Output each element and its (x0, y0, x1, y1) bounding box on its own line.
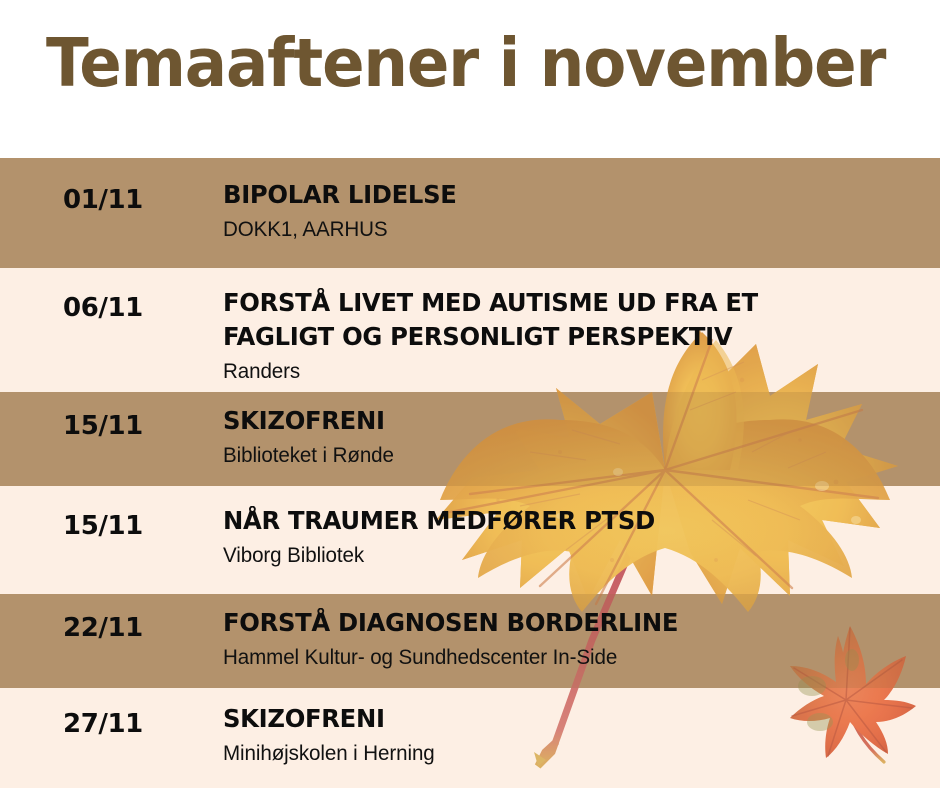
event-title: SKIZOFRENI (223, 702, 909, 736)
event-body: FORSTÅ DIAGNOSEN BORDERLINE Hammel Kultu… (223, 606, 930, 671)
event-title: FORSTÅ DIAGNOSEN BORDERLINE (223, 606, 909, 640)
list-item[interactable]: 15/11 SKIZOFRENI Biblioteket i Rønde (0, 392, 940, 486)
event-venue: Randers (223, 358, 916, 385)
event-date: 27/11 (63, 709, 143, 739)
event-date: 01/11 (63, 185, 143, 215)
list-item[interactable]: 01/11 BIPOLAR LIDELSE DOKK1, AARHUS (0, 158, 940, 268)
event-body: BIPOLAR LIDELSE DOKK1, AARHUS (223, 178, 930, 243)
event-venue: DOKK1, AARHUS (223, 216, 916, 243)
page-title: Temaaftener i november (46, 26, 885, 101)
event-venue: Viborg Bibliotek (223, 542, 916, 569)
event-title: FORSTÅ LIVET MED AUTISME UD FRA ET FAGLI… (223, 286, 909, 354)
list-item[interactable]: 15/11 NÅR TRAUMER MEDFØRER PTSD Viborg B… (0, 486, 940, 594)
event-body: NÅR TRAUMER MEDFØRER PTSD Viborg Bibliot… (223, 504, 930, 569)
list-item[interactable]: 06/11 FORSTÅ LIVET MED AUTISME UD FRA ET… (0, 268, 940, 392)
event-date: 15/11 (63, 411, 143, 441)
event-body: SKIZOFRENI Minihøjskolen i Herning (223, 702, 930, 767)
event-body: SKIZOFRENI Biblioteket i Rønde (223, 404, 930, 469)
list-item[interactable]: 27/11 SKIZOFRENI Minihøjskolen i Herning (0, 688, 940, 788)
list-item[interactable]: 22/11 FORSTÅ DIAGNOSEN BORDERLINE Hammel… (0, 594, 940, 688)
event-title: NÅR TRAUMER MEDFØRER PTSD (223, 504, 909, 538)
event-venue: Hammel Kultur- og Sundhedscenter In-Side (223, 644, 916, 671)
event-date: 06/11 (63, 293, 143, 323)
event-date: 22/11 (63, 613, 143, 643)
event-venue: Biblioteket i Rønde (223, 442, 916, 469)
poster-canvas: Temaaftener i november 01/11 BIPOLAR LID… (0, 0, 940, 788)
event-body: FORSTÅ LIVET MED AUTISME UD FRA ET FAGLI… (223, 286, 930, 385)
event-title: SKIZOFRENI (223, 404, 909, 438)
title-area: Temaaftener i november (0, 0, 940, 158)
event-venue: Minihøjskolen i Herning (223, 740, 916, 767)
event-date: 15/11 (63, 511, 143, 541)
event-title: BIPOLAR LIDELSE (223, 178, 909, 212)
